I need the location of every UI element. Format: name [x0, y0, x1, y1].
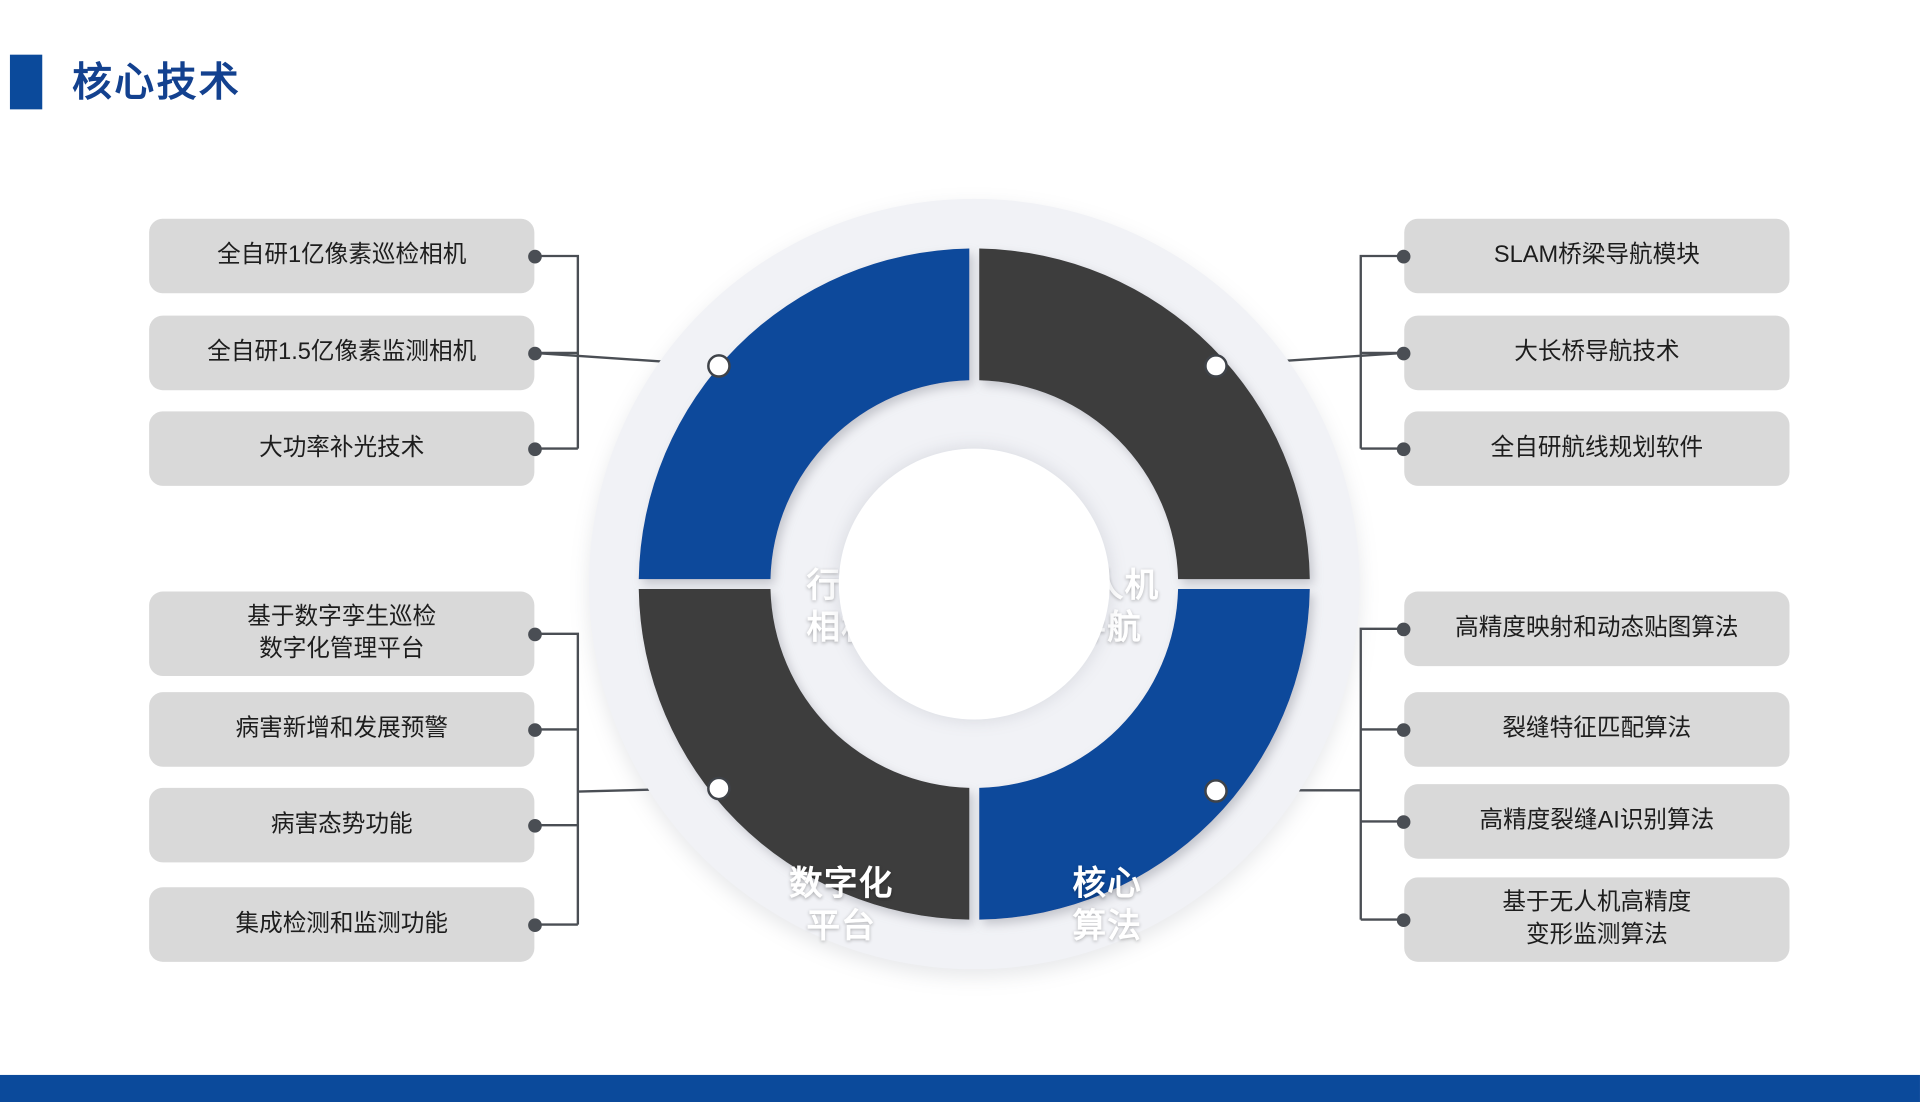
- list-item-label: 大功率补光技术: [259, 432, 424, 464]
- box-dot: [1397, 723, 1411, 737]
- box-dot: [1397, 913, 1411, 927]
- list-item-label: 大长桥导航技术: [1514, 337, 1679, 369]
- list-item[interactable]: SLAM桥梁导航模块: [1404, 219, 1789, 294]
- list-item-label: 高精度映射和动态贴图算法: [1455, 613, 1738, 645]
- list-item-label: 高精度裂缝AI识别算法: [1479, 805, 1714, 837]
- list-item[interactable]: 病害新增和发展预警: [149, 692, 534, 767]
- box-dot: [1397, 442, 1411, 456]
- list-item[interactable]: 全自研1亿像素巡检相机: [149, 219, 534, 294]
- list-item-label: 全自研1.5亿像素监测相机: [207, 337, 476, 369]
- box-dot: [528, 723, 542, 737]
- list-item[interactable]: 全自研航线规划软件: [1404, 411, 1789, 486]
- list-item-label: 病害态势功能: [271, 809, 413, 841]
- list-item-label: 病害新增和发展预警: [235, 713, 448, 745]
- footer-bar: [0, 1075, 1920, 1102]
- list-item[interactable]: 高精度映射和动态贴图算法: [1404, 592, 1789, 667]
- list-item[interactable]: 病害态势功能: [149, 788, 534, 863]
- list-item[interactable]: 大长桥导航技术: [1404, 316, 1789, 391]
- list-item[interactable]: 裂缝特征匹配算法: [1404, 692, 1789, 767]
- segment-label-digital-platform: 数字化 平台: [736, 862, 947, 947]
- slide-stage: 核心技术: [0, 0, 1920, 1102]
- list-item-label: 全自研1亿像素巡检相机: [217, 240, 466, 272]
- list-item-label: 裂缝特征匹配算法: [1502, 713, 1691, 745]
- list-item-label: 集成检测和监测功能: [235, 908, 448, 940]
- box-dot: [1397, 347, 1411, 361]
- list-item[interactable]: 大功率补光技术: [149, 411, 534, 486]
- list-item-label: 基于无人机高精度 变形监测算法: [1502, 887, 1691, 952]
- box-dot: [528, 442, 542, 456]
- box-dot: [1397, 623, 1411, 637]
- list-item[interactable]: 集成检测和监测功能: [149, 887, 534, 962]
- anchor-industry-camera[interactable]: [707, 354, 731, 378]
- page-title: 核心技术: [72, 55, 241, 110]
- box-dot: [1397, 250, 1411, 264]
- list-item[interactable]: 基于数字孪生巡检 数字化管理平台: [149, 592, 534, 677]
- box-dot: [528, 347, 542, 361]
- anchor-digital-platform[interactable]: [707, 777, 731, 801]
- box-dot: [528, 918, 542, 932]
- box-dot: [1397, 815, 1411, 829]
- box-dot: [528, 628, 542, 642]
- list-item[interactable]: 全自研1.5亿像素监测相机: [149, 316, 534, 391]
- box-dot: [528, 819, 542, 833]
- title-accent-bar: [10, 55, 42, 110]
- list-item[interactable]: 基于无人机高精度 变形监测算法: [1404, 877, 1789, 962]
- core-technology-donut: 行业 相机 无人机 导航 数字化 平台 核心 算法: [589, 199, 1359, 969]
- anchor-uav-navigation[interactable]: [1204, 354, 1228, 378]
- list-item-label: 全自研航线规划软件: [1491, 432, 1704, 464]
- list-item-label: SLAM桥梁导航模块: [1494, 240, 1700, 272]
- segment-label-core-algorithm: 核心 算法: [1002, 862, 1213, 947]
- anchor-core-algorithm[interactable]: [1204, 779, 1228, 803]
- list-item-label: 基于数字孪生巡检 数字化管理平台: [247, 601, 436, 666]
- donut-center-hole: [839, 449, 1110, 720]
- list-item[interactable]: 高精度裂缝AI识别算法: [1404, 784, 1789, 859]
- box-dot: [528, 250, 542, 264]
